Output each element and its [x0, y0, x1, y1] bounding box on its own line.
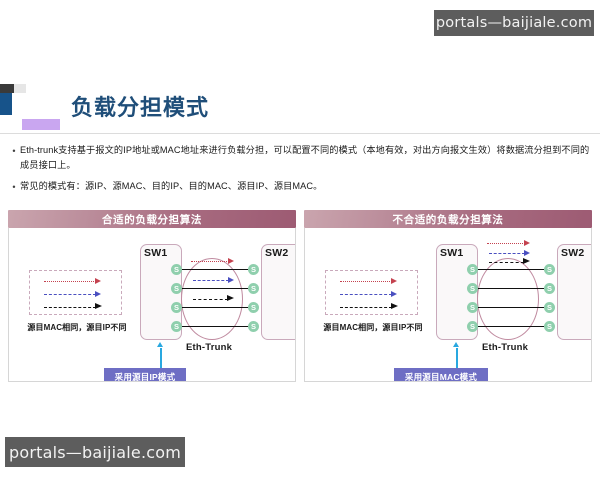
- trunk-link-1: [176, 269, 248, 270]
- traffic-flow-black: [193, 299, 228, 300]
- header-decor-light-block: [14, 84, 26, 93]
- traffic-flow-red: [487, 243, 525, 244]
- header-decor-purple-bar: [22, 119, 60, 130]
- port-sw1-1: S: [467, 264, 478, 275]
- switch-sw2-label: SW2: [561, 247, 584, 259]
- port-sw2-4: S: [544, 321, 555, 332]
- traffic-flow-blue-arrow-icon: [524, 250, 530, 256]
- list-item: • Eth-trunk支持基于报文的IP地址或MAC地址来进行负载分担，可以配置…: [8, 143, 594, 172]
- traffic-flow-blue-arrow-icon: [228, 277, 234, 283]
- port-sw2-1: S: [544, 264, 555, 275]
- flow-blue-arrow-icon: [391, 291, 397, 297]
- flow-blue-line: [44, 294, 96, 295]
- port-sw1-3: S: [467, 302, 478, 313]
- port-sw1-2: S: [467, 283, 478, 294]
- port-sw2-3: S: [248, 302, 259, 313]
- trunk-link-3: [176, 307, 248, 308]
- callout-arrow-icon: [157, 342, 163, 347]
- panel-bad-header: 不合适的负载分担算法: [304, 210, 592, 228]
- header-decor-blue-block: [0, 93, 12, 115]
- port-sw2-3: S: [544, 302, 555, 313]
- flow-black-line: [340, 307, 392, 308]
- callout-stem: [456, 348, 458, 368]
- bullet-marker-icon: •: [8, 143, 20, 158]
- header-divider: [0, 133, 600, 134]
- traffic-flow-red-arrow-icon: [228, 258, 234, 264]
- callout-arrow-icon: [453, 342, 459, 347]
- switch-sw2-label: SW2: [265, 247, 288, 259]
- flow-black-arrow-icon: [95, 303, 102, 309]
- traffic-flow-blue: [489, 253, 525, 254]
- switch-sw1-label: SW1: [440, 247, 463, 259]
- watermark-top: portals—baijiale.com: [434, 10, 594, 36]
- trunk-link-4: [472, 326, 544, 327]
- eth-trunk-bundle: [477, 258, 539, 340]
- watermark-bottom: portals—baijiale.com: [5, 437, 185, 467]
- flow-red-arrow-icon: [95, 278, 101, 284]
- switch-sw1-label: SW1: [144, 247, 167, 259]
- legend-caption: 源目MAC相同，源目IP不同: [21, 322, 133, 333]
- port-sw1-1: S: [171, 264, 182, 275]
- bullet-text: 常见的模式有：源IP、源MAC、目的IP、目的MAC、源目IP、源目MAC。: [20, 179, 322, 194]
- traffic-flow-red-arrow-icon: [524, 240, 530, 246]
- flow-black-arrow-icon: [391, 303, 398, 309]
- traffic-flow-red: [191, 261, 229, 262]
- flow-blue-line: [340, 294, 392, 295]
- flow-black-line: [44, 307, 96, 308]
- bullet-marker-icon: •: [8, 179, 20, 194]
- port-sw2-1: S: [248, 264, 259, 275]
- trunk-link-1: [472, 269, 544, 270]
- callout-stem: [160, 348, 162, 368]
- flow-legend-box: [325, 270, 418, 315]
- port-sw1-4: S: [171, 321, 182, 332]
- port-sw2-2: S: [248, 283, 259, 294]
- panel-good-header: 合适的负载分担算法: [8, 210, 296, 228]
- bullet-text: Eth-trunk支持基于报文的IP地址或MAC地址来进行负载分担，可以配置不同…: [20, 143, 594, 172]
- list-item: • 常见的模式有：源IP、源MAC、目的IP、目的MAC、源目IP、源目MAC。: [8, 179, 594, 194]
- port-sw2-4: S: [248, 321, 259, 332]
- panel-bad-body: 源目MAC相同，源目IP不同 SW1 SW2 S S S S S S S S E…: [304, 228, 592, 382]
- traffic-flow-blue: [193, 280, 229, 281]
- port-sw1-2: S: [171, 283, 182, 294]
- port-sw2-2: S: [544, 283, 555, 294]
- panel-good-algorithm: 合适的负载分担算法 源目MAC相同，源目IP不同 SW1 SW2 S S S S: [8, 210, 296, 382]
- trunk-link-2: [472, 288, 544, 289]
- callout-good-mode: 采用源目IP模式: [104, 368, 186, 382]
- panel-good-body: 源目MAC相同，源目IP不同 SW1 SW2 S S S S S S S S E…: [8, 228, 296, 382]
- flow-red-line: [340, 281, 392, 282]
- trunk-link-2: [176, 288, 248, 289]
- traffic-flow-black-arrow-icon: [523, 258, 530, 264]
- callout-bad-mode: 采用源目MAC模式: [394, 368, 488, 382]
- panel-bad-algorithm: 不合适的负载分担算法 源目MAC相同，源目IP不同 SW1 SW2 S S S …: [304, 210, 592, 382]
- port-sw1-3: S: [171, 302, 182, 313]
- flow-legend-box: [29, 270, 122, 315]
- port-sw1-4: S: [467, 321, 478, 332]
- header-decor-gray-block: [0, 84, 14, 93]
- legend-caption: 源目MAC相同，源目IP不同: [317, 322, 429, 333]
- eth-trunk-label: Eth-Trunk: [482, 342, 528, 353]
- bullet-list: • Eth-trunk支持基于报文的IP地址或MAC地址来进行负载分担，可以配置…: [8, 143, 594, 201]
- flow-red-line: [44, 281, 96, 282]
- traffic-flow-black-arrow-icon: [227, 295, 234, 301]
- trunk-link-3: [472, 307, 544, 308]
- eth-trunk-label: Eth-Trunk: [186, 342, 232, 353]
- page-title: 负载分担模式: [71, 97, 209, 119]
- traffic-flow-black: [489, 262, 524, 263]
- flow-red-arrow-icon: [391, 278, 397, 284]
- trunk-link-4: [176, 326, 248, 327]
- flow-blue-arrow-icon: [95, 291, 101, 297]
